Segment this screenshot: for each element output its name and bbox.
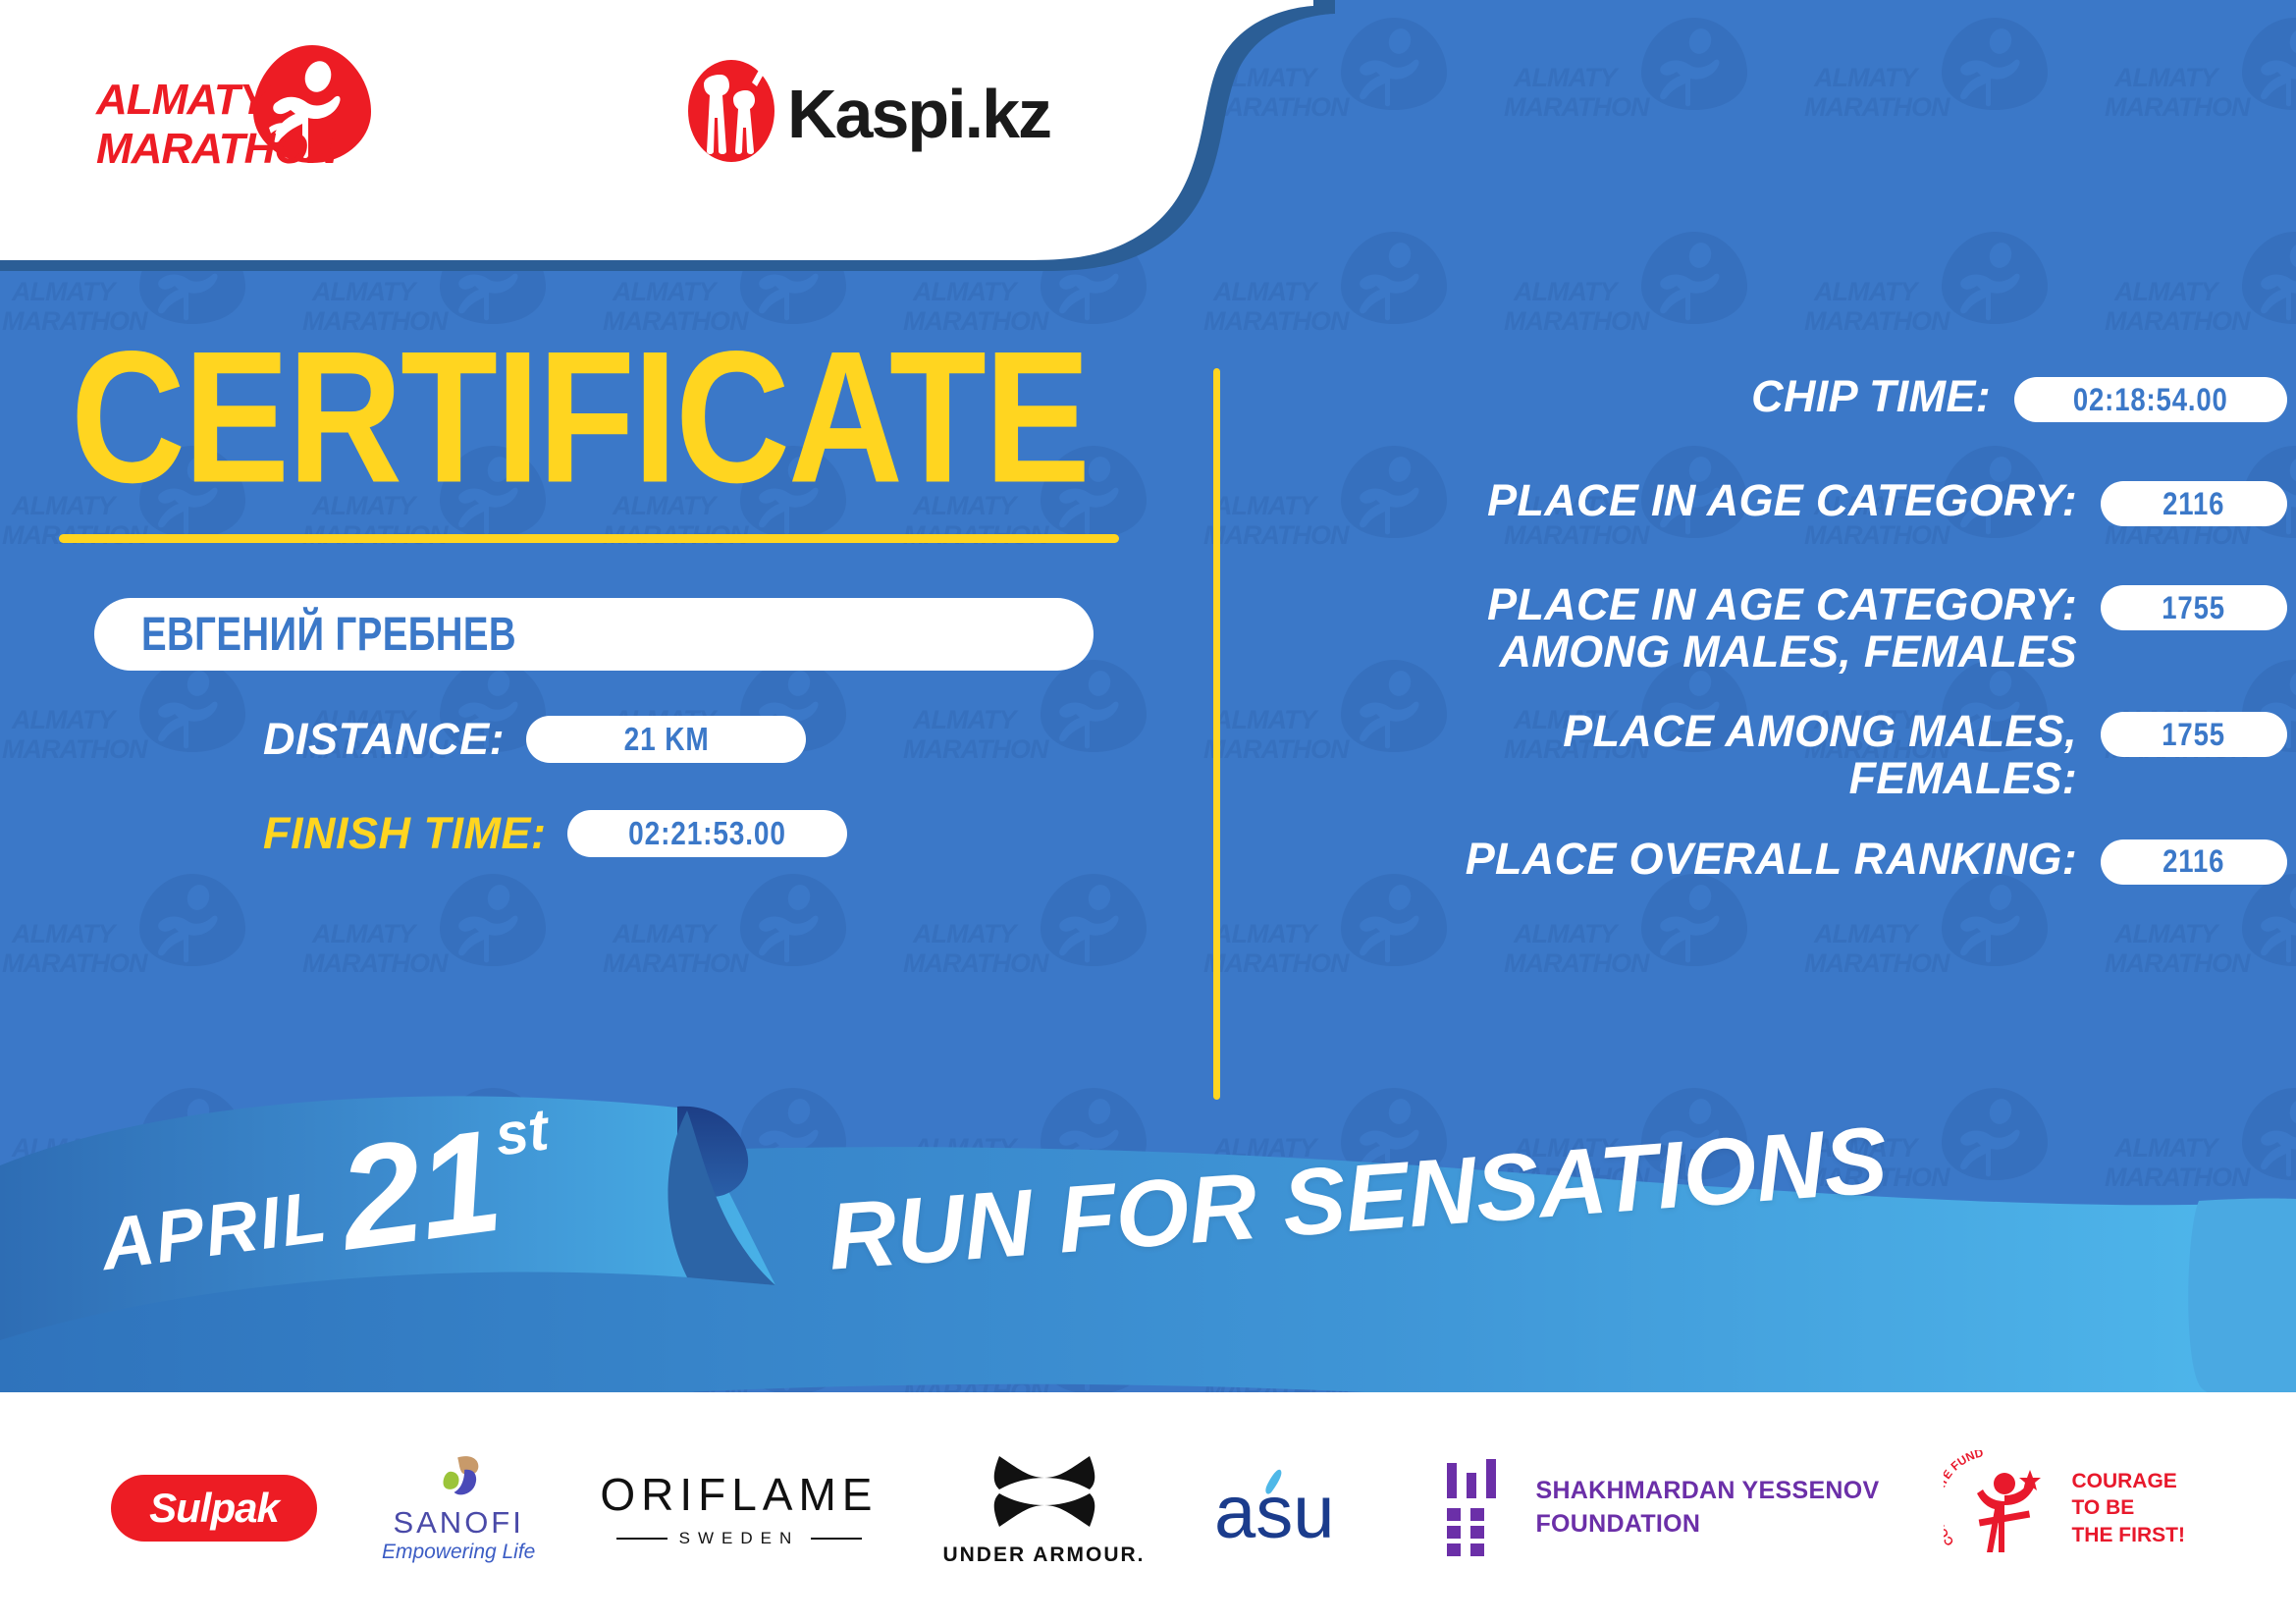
sponsor-oriflame: ORIFLAME SWEDEN bbox=[600, 1468, 878, 1548]
courage-fund-icon: CORPORATE FUND bbox=[1944, 1450, 2061, 1566]
distance-value: 21 KM bbox=[623, 721, 709, 758]
results-list: CHIP TIME:02:18:54.00PLACE IN AGE CATEGO… bbox=[1247, 373, 2287, 940]
yessenov-line2: FOUNDATION bbox=[1535, 1508, 1879, 1542]
courage-arc-text: CORPORATE FUND bbox=[1944, 1450, 1985, 1548]
oriflame-label: ORIFLAME bbox=[600, 1468, 878, 1521]
result-label: PLACE AMONG MALES,FEMALES: bbox=[1247, 708, 2101, 801]
result-value: 02:18:54.00 bbox=[2073, 382, 2228, 418]
kaspi-people-icon bbox=[688, 60, 774, 162]
almaty-marathon-logo: ALMATY MARATHON bbox=[94, 37, 399, 165]
sponsor-sanofi: SANOFI Empowering Life bbox=[382, 1454, 535, 1562]
result-label: PLACE IN AGE CATEGORY:AMONG MALES, FEMAL… bbox=[1247, 581, 2101, 675]
oriflame-rule-left bbox=[616, 1538, 667, 1540]
result-value-pill: 1755 bbox=[2101, 585, 2287, 630]
participant-name-field: ЕВГЕНИЙ ГРЕБНЕВ bbox=[94, 598, 1094, 671]
svg-text:Kaspi.kz: Kaspi.kz bbox=[787, 76, 1050, 152]
title-underline bbox=[59, 534, 1119, 543]
finish-time-value-pill: 02:21:53.00 bbox=[567, 810, 847, 857]
sponsor-courage: CORPORATE FUND COURAGE TO BE THE FIRST! bbox=[1944, 1450, 2185, 1566]
result-label: CHIP TIME: bbox=[1247, 373, 2014, 420]
finish-time-label: FINISH TIME: bbox=[263, 808, 546, 859]
sulpak-logo: Sulpak bbox=[111, 1475, 317, 1542]
distance-value-pill: 21 KM bbox=[526, 716, 806, 763]
page-title: CERTIFICATE bbox=[71, 324, 1207, 512]
courage-line1: COURAGE bbox=[2071, 1468, 2185, 1494]
oriflame-rule-right bbox=[811, 1538, 862, 1540]
result-value-pill: 02:18:54.00 bbox=[2014, 377, 2287, 422]
sponsor-asu: asu bbox=[1210, 1463, 1377, 1553]
distance-label: DISTANCE: bbox=[263, 714, 505, 765]
sanofi-label: SANOFI bbox=[382, 1507, 535, 1538]
under-armour-label: UNDER ARMOUR. bbox=[942, 1543, 1145, 1567]
result-value-pill: 2116 bbox=[2101, 839, 2287, 885]
result-row: PLACE OVERALL RANKING:2116 bbox=[1247, 836, 2287, 906]
result-value: 2116 bbox=[2163, 486, 2224, 522]
result-value: 2116 bbox=[2163, 843, 2224, 880]
result-row: PLACE IN AGE CATEGORY:AMONG MALES, FEMAL… bbox=[1247, 581, 2287, 675]
kaspi-logo: Kaspi.kz bbox=[677, 57, 1060, 165]
svg-text:MARATHON: MARATHON bbox=[96, 125, 340, 173]
sanofi-mark-icon bbox=[416, 1454, 501, 1499]
certificate-canvas: ALMATY MARATHON Kaspi.kz CERTIFICATE ЕВГ… bbox=[0, 0, 2296, 1624]
event-day-ordinal: st bbox=[491, 1095, 552, 1168]
result-row: PLACE AMONG MALES,FEMALES:1755 bbox=[1247, 708, 2287, 801]
sponsor-bar: Sulpak SANOFI Empowering Life ORIFLAME S… bbox=[0, 1392, 2296, 1624]
svg-text:ALMATY: ALMATY bbox=[95, 76, 272, 124]
participant-name: ЕВГЕНИЙ ГРЕБНЕВ bbox=[141, 608, 516, 662]
sulpak-label: Sulpak bbox=[149, 1485, 279, 1532]
vertical-divider bbox=[1213, 368, 1220, 1100]
sponsor-under-armour: UNDER ARMOUR. bbox=[942, 1450, 1145, 1567]
courage-line3: THE FIRST! bbox=[2071, 1522, 2185, 1548]
result-value-pill: 1755 bbox=[2101, 712, 2287, 757]
distance-row: DISTANCE: 21 KM bbox=[263, 714, 1207, 765]
result-value: 1755 bbox=[2163, 717, 2226, 753]
result-value-pill: 2116 bbox=[2101, 481, 2287, 526]
event-day: 21 bbox=[333, 1119, 506, 1263]
result-row: CHIP TIME:02:18:54.00 bbox=[1247, 373, 2287, 444]
finish-time-row: FINISH TIME: 02:21:53.00 bbox=[263, 808, 1207, 859]
result-value: 1755 bbox=[2163, 590, 2226, 626]
oriflame-sub: SWEDEN bbox=[679, 1529, 800, 1548]
result-label: PLACE OVERALL RANKING: bbox=[1247, 836, 2101, 883]
yessenov-mark-icon bbox=[1441, 1459, 1516, 1557]
sanofi-tagline: Empowering Life bbox=[382, 1542, 535, 1562]
certificate-left-column: CERTIFICATE ЕВГЕНИЙ ГРЕБНЕВ DISTANCE: 21… bbox=[0, 324, 1207, 859]
yessenov-line1: SHAKHMARDAN YESSENOV bbox=[1535, 1475, 1879, 1508]
asu-logo-icon: asu bbox=[1210, 1463, 1377, 1553]
sponsor-yessenov: SHAKHMARDAN YESSENOV FOUNDATION bbox=[1441, 1459, 1879, 1557]
finish-time-value: 02:21:53.00 bbox=[629, 815, 787, 852]
result-label: PLACE IN AGE CATEGORY: bbox=[1247, 477, 2101, 524]
courage-line2: TO BE bbox=[2071, 1494, 2185, 1521]
under-armour-icon bbox=[966, 1450, 1123, 1533]
sponsor-sulpak: Sulpak bbox=[111, 1475, 317, 1542]
result-row: PLACE IN AGE CATEGORY:2116 bbox=[1247, 477, 2287, 548]
